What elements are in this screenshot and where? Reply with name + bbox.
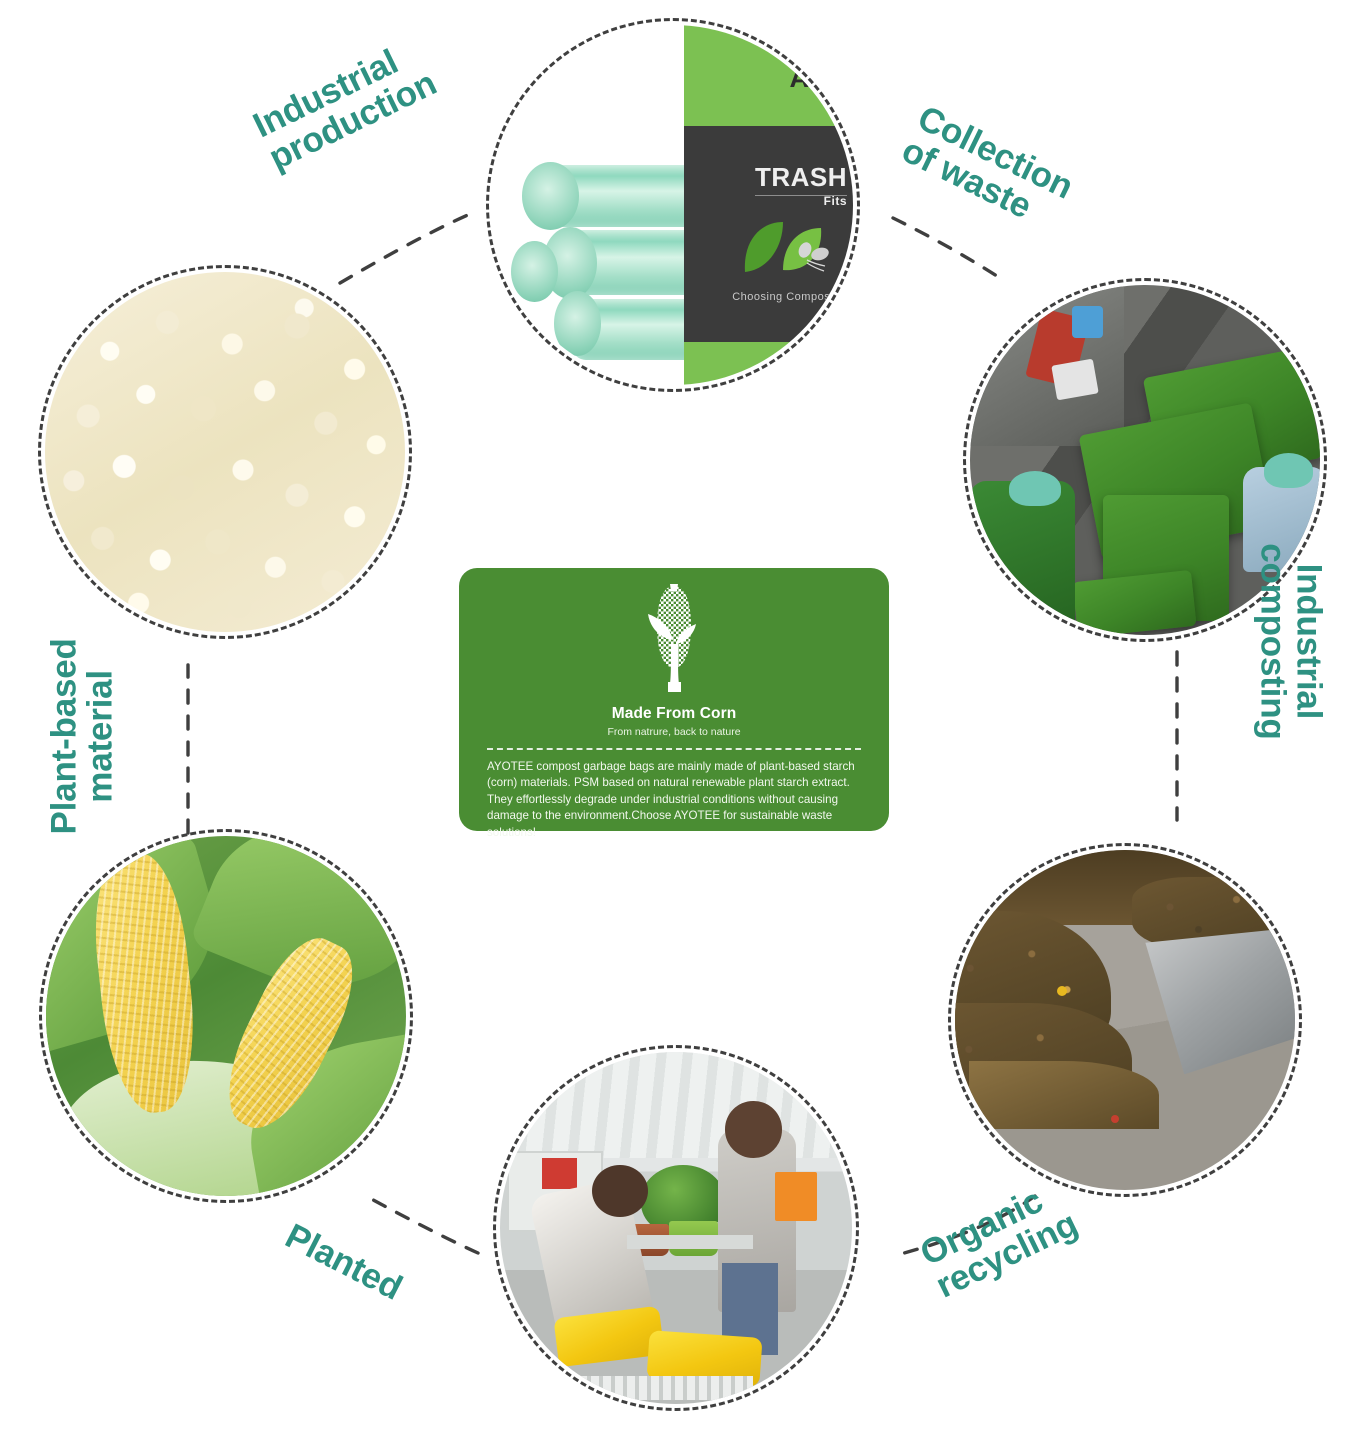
label-industrial-production: Industrial production [248, 33, 442, 178]
product-headline: TRASH [755, 162, 847, 196]
node-resin-pellets[interactable] [45, 272, 405, 632]
label-collection-of-waste: Collection of waste [896, 100, 1078, 239]
card-subtitle: From natrure, back to nature [487, 726, 861, 738]
card-body: AYOTEE compost garbage bags are mainly m… [487, 759, 861, 841]
photo-corn-cobs [46, 836, 406, 1196]
label-industrial-composting: Industrial composting [1254, 516, 1327, 766]
node-industrial-production[interactable]: AYO TRASH Fits Choosing Compostab [493, 25, 853, 385]
product-box: AYO TRASH Fits Choosing Compostab [684, 25, 853, 385]
connector-recycling-to-planted [366, 1196, 478, 1253]
label-planted: Planted [279, 1218, 407, 1307]
node-plant-based-material[interactable] [46, 836, 406, 1196]
card-title: Made From Corn [487, 705, 861, 723]
connector-production-to-collection [893, 218, 1000, 278]
label-organic-recycling: Organic recycling [915, 1173, 1083, 1305]
product-footer: Choosing Compostab [732, 291, 847, 303]
connector-material-to-production [340, 214, 470, 283]
node-industrial-composting[interactable] [955, 850, 1295, 1190]
info-card: Made From Corn From natrure, back to nat… [459, 568, 889, 831]
photo-garden-centre [500, 1052, 852, 1404]
lifecycle-diagram: Plant-based material AYO TRASH Fits [0, 0, 1371, 1444]
product-brand: AYO [789, 63, 847, 94]
leaf-icon [739, 216, 835, 278]
corn-cob-icon [646, 584, 702, 700]
node-planted[interactable] [500, 1052, 852, 1404]
loader-bucket [1145, 925, 1295, 1075]
photo-trash-bag-rolls: AYO TRASH Fits Choosing Compostab [493, 25, 853, 385]
label-plant-based-material: Plant-based material [47, 611, 120, 861]
card-divider [487, 748, 861, 750]
photo-industrial-composting [955, 850, 1295, 1190]
product-sub: Fits [824, 194, 847, 208]
photo-starch-pellets [45, 272, 405, 632]
